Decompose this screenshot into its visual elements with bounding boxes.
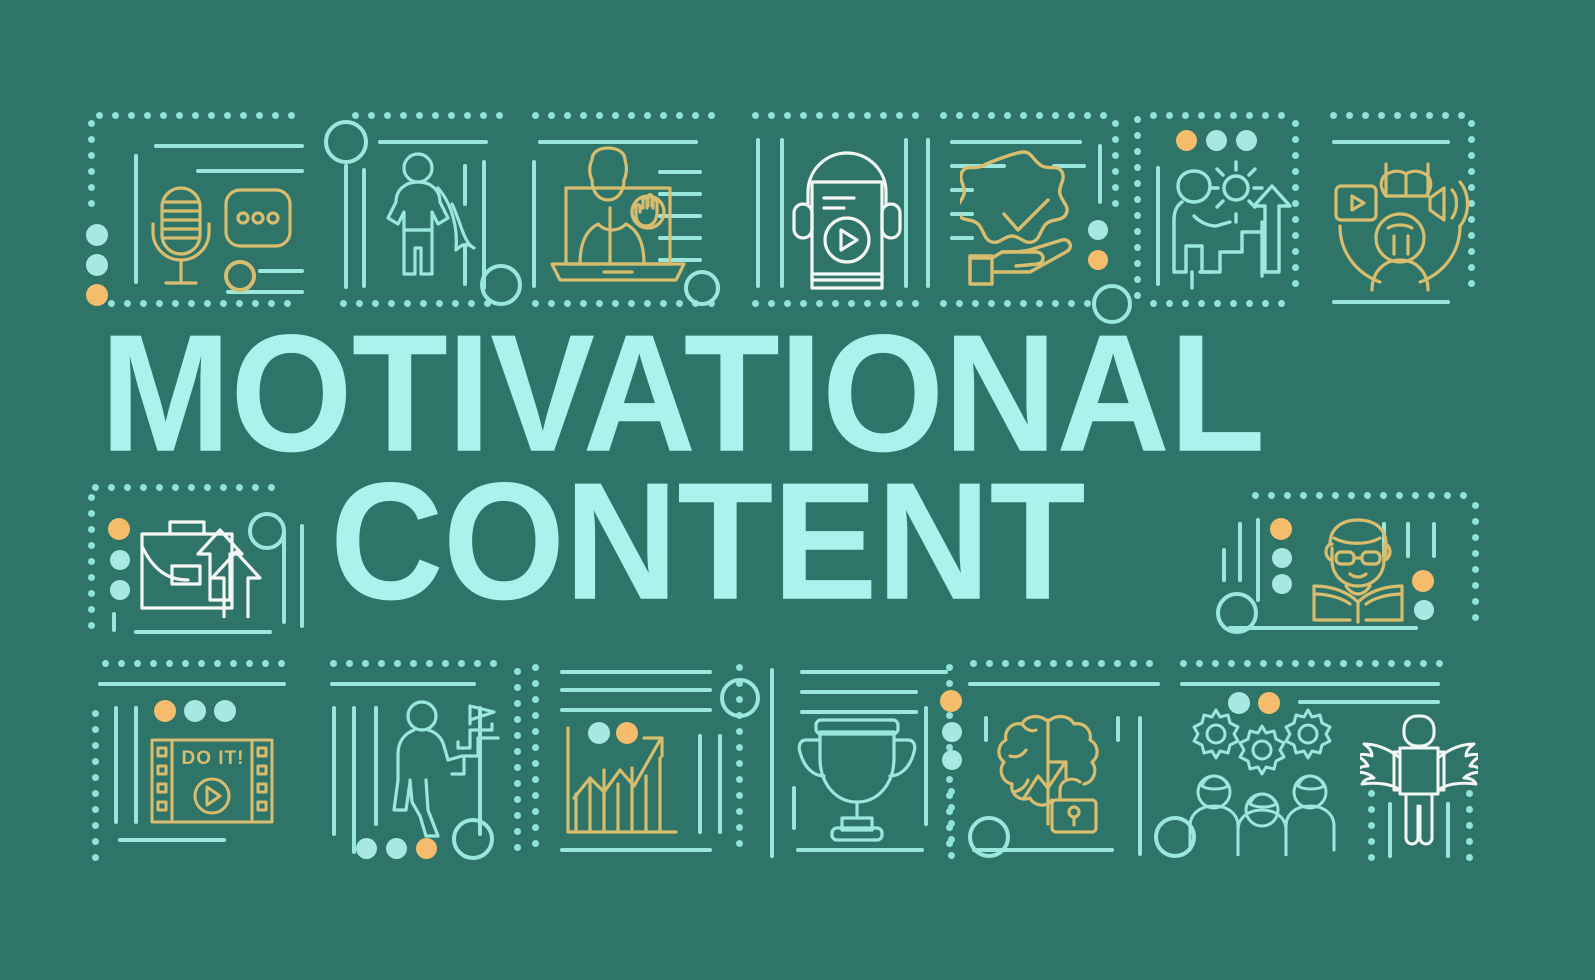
decor-line (98, 682, 286, 686)
dotted-right-border (514, 668, 521, 858)
decor-line (352, 706, 356, 854)
decor-dot (110, 550, 130, 570)
panel-superhero (330, 112, 520, 307)
decor-line (968, 682, 1160, 686)
goal-flag-stairs-icon (388, 698, 500, 838)
decor-line (718, 734, 722, 834)
learning-media-icon (1332, 150, 1472, 295)
dotted-top-border (1330, 112, 1470, 119)
panel-audiobook (752, 112, 932, 307)
panel-angel-person (1340, 660, 1490, 858)
panel-trust-star (940, 112, 1120, 307)
decor-dot (1270, 518, 1292, 540)
decor-line (780, 138, 784, 288)
decor-line (1238, 522, 1242, 582)
decor-line (154, 144, 304, 148)
decor-line (538, 140, 698, 144)
decor-dot (1206, 130, 1227, 151)
decor-ring (324, 120, 368, 164)
dotted-bottom-border (108, 300, 303, 307)
decor-line (282, 530, 286, 624)
title-line-2: CONTENT (330, 470, 1085, 614)
decor-dot (154, 700, 176, 722)
dotted-bottom-border (752, 300, 926, 307)
panel-trophy (770, 660, 950, 858)
decor-ring (684, 270, 720, 306)
dotted-left-border (1134, 116, 1141, 306)
dotted-top-border (92, 484, 286, 491)
decor-line (924, 706, 928, 826)
online-coach-laptop-icon (548, 146, 688, 291)
decor-dot (110, 580, 130, 600)
panel-team-gears (1180, 660, 1360, 858)
superhero-icon (382, 152, 478, 292)
decor-dot (1088, 220, 1108, 240)
decor-line (344, 164, 348, 289)
decor-line (800, 710, 918, 714)
decor-line (796, 848, 924, 852)
decor-dot (386, 838, 407, 859)
decor-line (1432, 522, 1436, 558)
film-strip-caption: DO IT! (178, 748, 248, 770)
dotted-top-border (330, 660, 506, 667)
decor-dot (416, 838, 437, 859)
decor-line (560, 708, 712, 712)
decor-line (532, 160, 536, 288)
decor-line (560, 688, 712, 692)
decor-line (904, 138, 908, 288)
decor-line (374, 706, 378, 826)
growth-chart-icon (562, 722, 682, 840)
decor-line (926, 138, 930, 288)
dotted-top-border (102, 660, 298, 667)
dotted-right-border (1472, 502, 1479, 632)
decor-line (1222, 548, 1226, 582)
dotted-top-border (532, 112, 732, 119)
decor-dot (940, 690, 962, 712)
panel-brain-unlock (940, 660, 1160, 858)
panel-career-growth (1134, 112, 1314, 307)
decor-line (560, 848, 712, 852)
decor-line (1098, 144, 1102, 204)
decor-dot (184, 700, 206, 722)
decor-ring (1092, 284, 1132, 324)
dotted-top-border (752, 112, 926, 119)
decor-line (300, 524, 304, 628)
dotted-top-border (1180, 660, 1356, 667)
decor-line (1116, 716, 1120, 742)
decor-line (984, 716, 988, 742)
decor-line (972, 848, 1114, 852)
dotted-top-border (1252, 492, 1474, 499)
team-gears-icon (1186, 706, 1338, 856)
panel-growth-chart (532, 660, 742, 858)
decor-dot (214, 700, 236, 722)
decor-line (1332, 140, 1450, 144)
panel-learning-media (1330, 112, 1475, 307)
decor-dot (1236, 130, 1257, 151)
dotted-bottom-border (1150, 300, 1292, 307)
decor-ring (480, 264, 522, 306)
decor-line (1138, 716, 1142, 856)
decor-line (196, 169, 304, 173)
dotted-left-border (948, 788, 955, 858)
decor-dot (356, 838, 377, 859)
decor-line (118, 838, 226, 842)
panel-reader (1216, 492, 1476, 632)
decor-dot (1088, 250, 1108, 270)
decor-line (950, 140, 1082, 144)
decor-line (1330, 682, 1440, 686)
decor-dot (942, 750, 962, 770)
decor-line (756, 138, 760, 288)
panel-goal-flag (330, 660, 520, 858)
decor-line (378, 140, 488, 144)
decor-ring (720, 678, 760, 718)
decor-line (1228, 626, 1418, 630)
title-line-1: MOTIVATIONAL (100, 322, 1264, 466)
dotted-left-border (88, 494, 95, 636)
dotted-top-border (970, 660, 1166, 667)
trust-hand-check-icon (960, 146, 1088, 291)
decor-line (1354, 700, 1440, 704)
decor-line (1256, 518, 1260, 602)
decor-line (560, 670, 712, 674)
decor-line (362, 168, 366, 288)
dotted-top-border (1150, 112, 1292, 119)
decor-dot (942, 722, 962, 742)
dotted-top-border (940, 112, 1115, 119)
decor-dot (1272, 548, 1292, 568)
dotted-top-border (352, 112, 522, 119)
decor-line (332, 706, 336, 836)
dotted-top-border (96, 112, 310, 119)
decor-dot (108, 518, 130, 540)
decor-line (698, 734, 702, 834)
trophy-icon (794, 718, 920, 842)
decor-dot (1272, 574, 1292, 594)
decor-line (114, 706, 118, 824)
decor-dot (1176, 130, 1197, 151)
brain-unlock-icon (990, 712, 1110, 836)
decor-line (1156, 166, 1160, 286)
dotted-bottom-border (940, 300, 1100, 307)
reader-glasses-icon (1300, 514, 1416, 626)
decor-line (134, 706, 138, 824)
decor-line (134, 154, 138, 284)
dotted-left-border (92, 710, 99, 858)
decor-dot (86, 224, 108, 246)
decor-dot (1414, 600, 1434, 620)
decor-dot (86, 284, 108, 306)
briefcase-growth-icon (138, 508, 268, 618)
decor-line (800, 690, 918, 694)
dotted-left-border (88, 120, 95, 210)
panel-podcast-microphone (88, 112, 318, 307)
banner-canvas: MOTIVATIONAL CONTENT (0, 0, 1595, 980)
decor-dot (86, 254, 108, 276)
decor-line (770, 668, 774, 858)
microphone-podcast-icon (148, 184, 293, 294)
decor-line (800, 670, 948, 674)
dotted-top-border (1340, 660, 1440, 667)
audiobook-headphones-icon (792, 146, 902, 294)
panel-film-strip: DO IT! (92, 660, 292, 858)
panel-briefcase-growth (88, 484, 308, 636)
career-growth-stairs-icon (1172, 160, 1302, 290)
decor-line (134, 630, 272, 634)
dotted-left-border (532, 664, 539, 856)
dotted-right-border (1112, 120, 1119, 215)
decor-line (330, 682, 476, 686)
decor-line (112, 612, 116, 632)
decor-line (1332, 300, 1450, 304)
angel-wings-person-icon (1360, 714, 1478, 846)
panel-online-coach (532, 112, 738, 307)
